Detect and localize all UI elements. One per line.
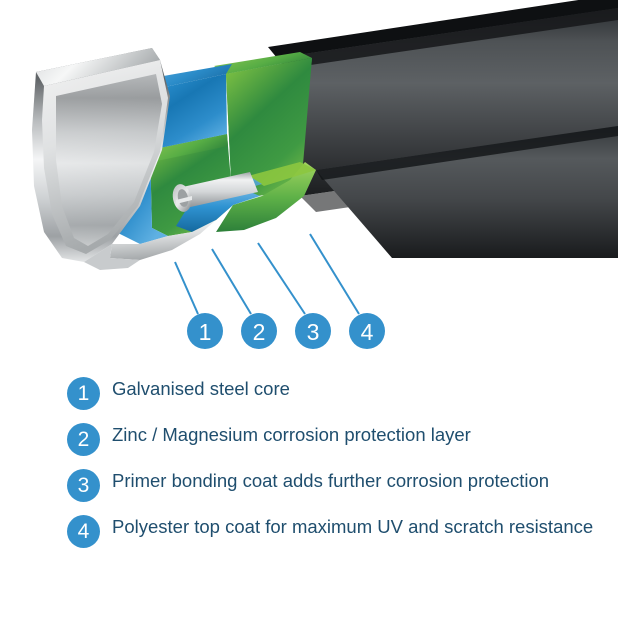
legend-badge-2: 2: [67, 423, 100, 456]
leader-line-4: [310, 234, 359, 314]
legend-list: 1 Galvanised steel core 2 Zinc / Magnesi…: [0, 376, 618, 560]
legend-text-2: Zinc / Magnesium corrosion protection la…: [112, 422, 471, 448]
callout-badge-1-label: 1: [199, 319, 212, 345]
leader-line-2: [212, 249, 251, 314]
callout-leader-lines: [175, 234, 359, 314]
leader-line-3: [258, 243, 305, 314]
legend-item-1: 1 Galvanised steel core: [0, 376, 618, 410]
callout-badge-4-label: 4: [361, 319, 374, 345]
legend-item-2: 2 Zinc / Magnesium corrosion protection …: [0, 422, 618, 456]
callout-badges: 1 2 3 4: [187, 313, 385, 349]
callout-badge-2-label: 2: [253, 319, 266, 345]
legend-text-1: Galvanised steel core: [112, 376, 290, 402]
callout-badge-1[interactable]: 1: [187, 313, 223, 349]
legend-item-3: 3 Primer bonding coat adds further corro…: [0, 468, 618, 502]
legend-text-3: Primer bonding coat adds further corrosi…: [112, 468, 549, 494]
leader-line-1: [175, 262, 198, 314]
callout-badge-3[interactable]: 3: [295, 313, 331, 349]
legend-badge-1: 1: [67, 377, 100, 410]
legend-badge-3: 3: [67, 469, 100, 502]
legend-item-4: 4 Polyester top coat for maximum UV and …: [0, 514, 618, 548]
cutaway-pipe-illustration: 1 2 3 4: [0, 0, 618, 360]
layer-polyester-top-coat: [268, 0, 618, 258]
callout-badge-2[interactable]: 2: [241, 313, 277, 349]
callout-badge-3-label: 3: [307, 319, 320, 345]
legend-badge-4: 4: [67, 515, 100, 548]
legend-text-4: Polyester top coat for maximum UV and sc…: [112, 514, 593, 540]
callout-badge-4[interactable]: 4: [349, 313, 385, 349]
